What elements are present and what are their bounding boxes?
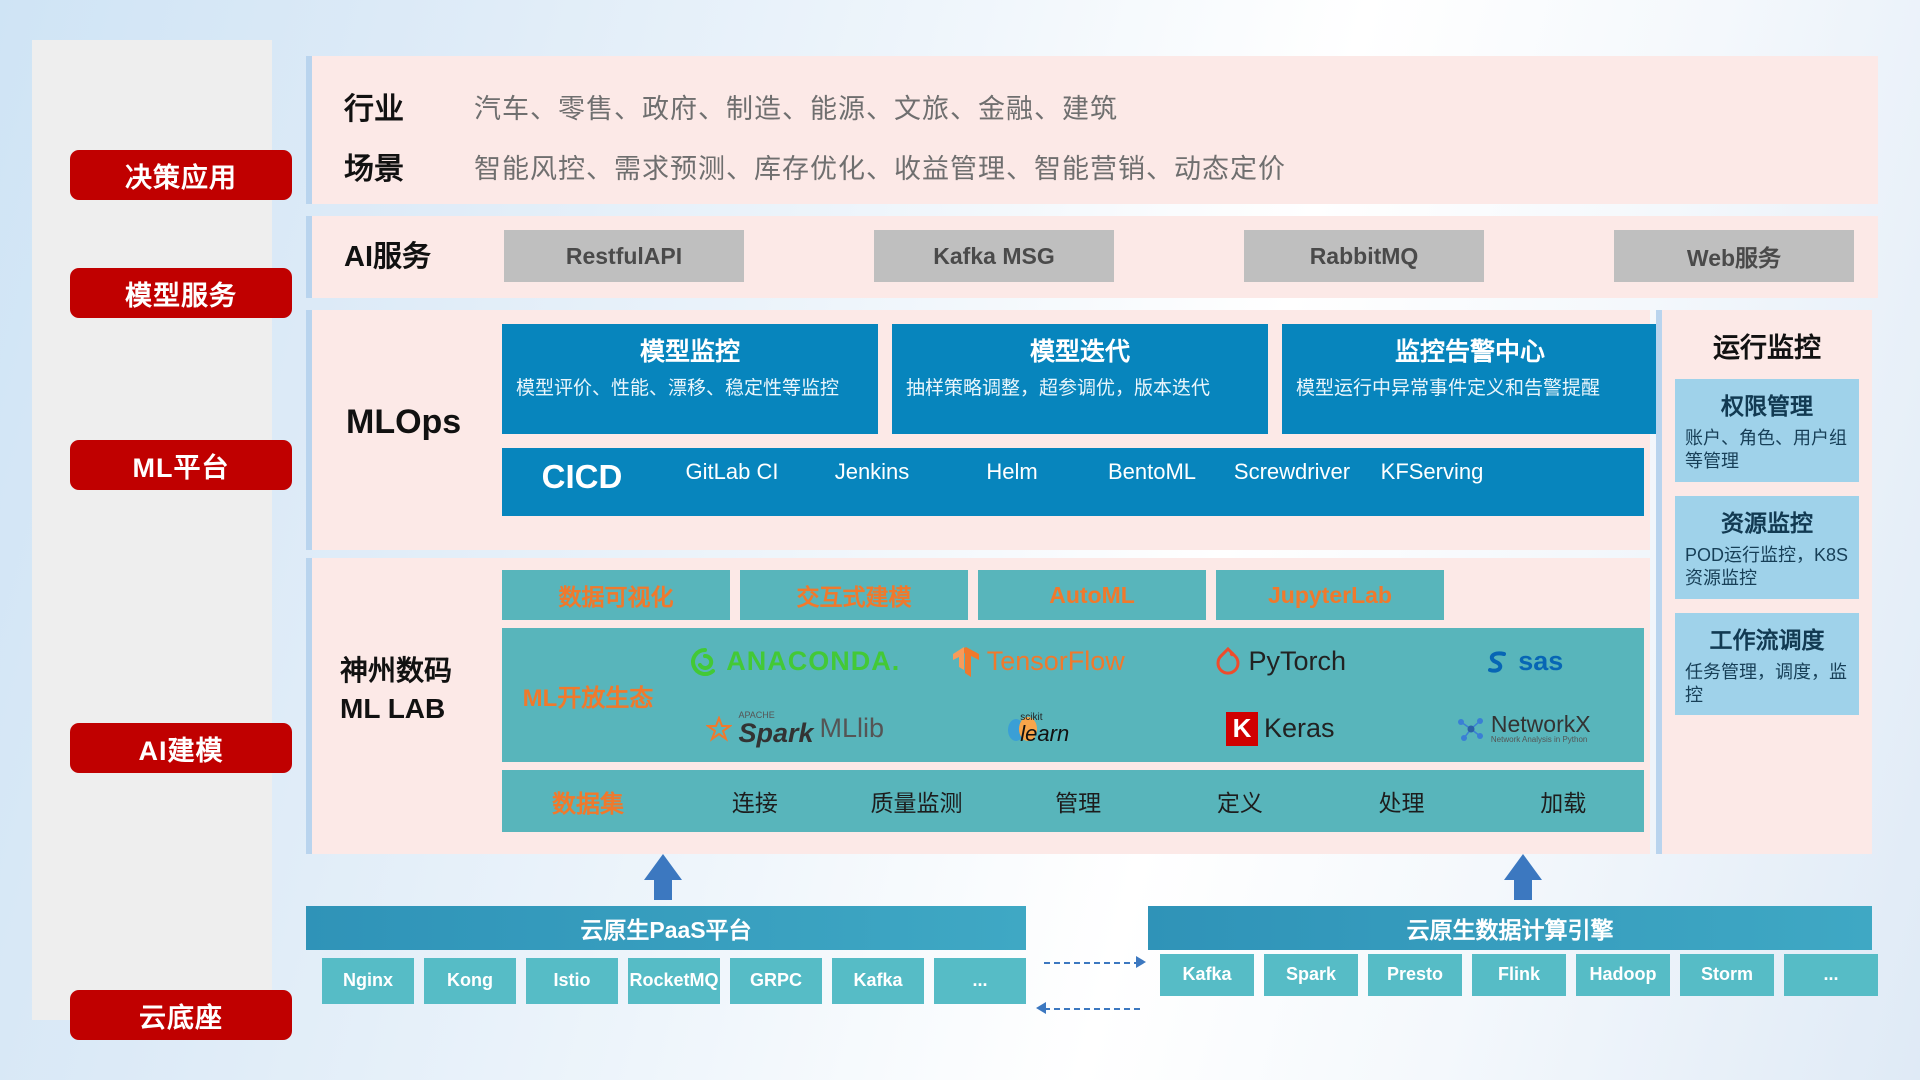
sas-logo: sas <box>1482 646 1563 677</box>
tech-chip-istio[interactable]: Istio <box>526 958 618 1004</box>
keras-logo: K Keras <box>1226 712 1335 746</box>
pytorch-logo-text: PyTorch <box>1248 646 1346 677</box>
learn-logo-text: learn <box>1020 723 1069 745</box>
card-title: 工作流调度 <box>1685 621 1849 655</box>
dataset-item-load[interactable]: 加载 <box>1482 784 1644 818</box>
keras-logo-text: Keras <box>1264 713 1335 744</box>
operations-monitoring-column: 运行监控 权限管理 账户、角色、用户组等管理 资源监控 POD运行监控，K8S资… <box>1656 310 1872 854</box>
tech-chip-more[interactable]: ... <box>1784 954 1878 996</box>
dataset-strip: 数据集 连接 质量监测 管理 定义 处理 加载 <box>502 770 1644 832</box>
mlops-card-model-monitoring[interactable]: 模型监控 模型评价、性能、漂移、稳定性等监控 <box>502 324 878 434</box>
paas-uplink-stem <box>654 878 672 900</box>
rail-item-label: 模型服务 <box>125 274 237 313</box>
cicd-item-screwdriver[interactable]: Screwdriver <box>1222 458 1362 486</box>
paas-platform-bar[interactable]: 云原生PaaS平台 <box>306 906 1026 950</box>
tensorflow-logo-text: TensorFlow <box>987 646 1125 677</box>
dataset-label: 数据集 <box>502 784 674 819</box>
rail-item-model-service[interactable]: 模型服务 <box>70 268 292 318</box>
mlops-card-alert-center[interactable]: 监控告警中心 模型运行中异常事件定义和告警提醒 <box>1282 324 1658 434</box>
lab-tab-data-visualization[interactable]: 数据可视化 <box>502 570 730 620</box>
monitor-card-permission[interactable]: 权限管理 账户、角色、用户组等管理 <box>1675 379 1859 482</box>
industry-key: 行业 <box>344 84 474 128</box>
lab-tab-list: 数据可视化 交互式建模 AutoML JupyterLab <box>502 570 1444 620</box>
card-desc: POD运行监控，K8S资源监控 <box>1685 544 1849 591</box>
card-desc: 任务管理，调度，监控 <box>1685 661 1849 708</box>
industry-row: 行业 汽车、零售、政府、制造、能源、文旅、金融、建筑 <box>344 84 1118 128</box>
rail-item-decision-app[interactable]: 决策应用 <box>70 150 292 200</box>
ml-ecosystem-strip: ML开放生态 ANACONDA. TensorFlow <box>502 628 1644 762</box>
dataset-item-manage[interactable]: 管理 <box>997 784 1159 818</box>
card-desc: 账户、角色、用户组等管理 <box>1685 427 1849 474</box>
rail-item-label: AI建模 <box>139 729 224 768</box>
networkx-tagline: Network Analysis in Python <box>1491 736 1591 744</box>
industry-value: 汽车、零售、政府、制造、能源、文旅、金融、建筑 <box>474 87 1118 126</box>
tech-chip-kafka[interactable]: Kafka <box>1160 954 1254 996</box>
tech-chip-rocketmq[interactable]: RocketMQ <box>628 958 720 1004</box>
rail-item-cloud-base[interactable]: 云底座 <box>70 990 292 1040</box>
cicd-item-helm[interactable]: Helm <box>942 458 1082 486</box>
logo-grid: ANACONDA. TensorFlow PyTorch <box>674 628 1644 762</box>
paas-uplink-arrow-icon <box>644 854 682 880</box>
pytorch-logo: PyTorch <box>1214 646 1346 677</box>
monitor-card-workflow[interactable]: 工作流调度 任务管理，调度，监控 <box>1675 613 1859 716</box>
anaconda-logo: ANACONDA. <box>690 646 900 677</box>
ml-ecosystem-label: ML开放生态 <box>502 678 674 713</box>
card-title: 模型迭代 <box>906 332 1254 368</box>
card-desc: 抽样策略调整，超参调优，版本迭代 <box>906 376 1254 402</box>
lab-tab-interactive-modeling[interactable]: 交互式建模 <box>740 570 968 620</box>
application-band: 行业 汽车、零售、政府、制造、能源、文旅、金融、建筑 场景 智能风控、需求预测、… <box>306 56 1878 204</box>
card-title: 权限管理 <box>1685 387 1849 421</box>
card-desc: 模型运行中异常事件定义和告警提醒 <box>1296 376 1644 402</box>
mlops-card-model-iteration[interactable]: 模型迭代 抽样策略调整，超参调优，版本迭代 <box>892 324 1268 434</box>
networkx-logo: NetworkX Network Analysis in Python <box>1455 713 1591 744</box>
service-chip-restful[interactable]: RestfulAPI <box>504 230 744 282</box>
service-chip-web[interactable]: Web服务 <box>1614 230 1854 282</box>
ai-service-band: AI服务 RestfulAPI Kafka MSG RabbitMQ Web服务 <box>306 216 1878 298</box>
tech-chip-kong[interactable]: Kong <box>424 958 516 1004</box>
mlops-card-list: 模型监控 模型评价、性能、漂移、稳定性等监控 模型迭代 抽样策略调整，超参调优，… <box>502 324 1658 434</box>
scenario-value: 智能风控、需求预测、库存优化、收益管理、智能营销、动态定价 <box>474 147 1286 186</box>
paas-platform-label: 云原生PaaS平台 <box>580 911 751 945</box>
interconnect-arrow-right <box>1044 962 1140 964</box>
tensorflow-logo: TensorFlow <box>951 645 1125 679</box>
rail-item-label: ML平台 <box>133 446 230 485</box>
compute-tech-chip-list: Kafka Spark Presto Flink Hadoop Storm ..… <box>1160 954 1878 996</box>
tech-chip-flink[interactable]: Flink <box>1472 954 1566 996</box>
cicd-item-gitlab[interactable]: GitLab CI <box>662 458 802 486</box>
paas-tech-chip-list: Nginx Kong Istio RocketMQ GRPC Kafka ... <box>322 958 1026 1004</box>
lab-tab-automl[interactable]: AutoML <box>978 570 1206 620</box>
card-title: 资源监控 <box>1685 504 1849 538</box>
compute-uplink-stem <box>1514 878 1532 900</box>
ml-lab-label-line2: ML LAB <box>340 690 452 728</box>
ai-service-chip-list: RestfulAPI Kafka MSG RabbitMQ Web服务 <box>504 230 1854 282</box>
cicd-title: CICD <box>502 458 662 496</box>
cicd-item-jenkins[interactable]: Jenkins <box>802 458 942 486</box>
tech-chip-kafka[interactable]: Kafka <box>832 958 924 1004</box>
layer-rail: 决策应用 模型服务 ML平台 AI建模 云底座 <box>32 40 272 1020</box>
networkx-logo-text: NetworkX <box>1491 713 1591 736</box>
tech-chip-more[interactable]: ... <box>934 958 1026 1004</box>
rail-item-label: 云底座 <box>139 996 223 1035</box>
spark-logo-text: Spark <box>738 720 813 747</box>
rail-item-label: 决策应用 <box>125 156 237 195</box>
mllib-logo-text: MLlib <box>820 713 885 744</box>
service-chip-kafka[interactable]: Kafka MSG <box>874 230 1114 282</box>
data-compute-engine-bar[interactable]: 云原生数据计算引擎 <box>1148 906 1872 950</box>
scenario-key: 场景 <box>344 144 474 188</box>
dataset-item-quality[interactable]: 质量监测 <box>836 784 998 818</box>
interconnect-arrowhead-left-icon <box>1036 1002 1046 1014</box>
scenario-row: 场景 智能风控、需求预测、库存优化、收益管理、智能营销、动态定价 <box>344 144 1286 188</box>
rail-item-ml-platform[interactable]: ML平台 <box>70 440 292 490</box>
rail-item-ai-modeling[interactable]: AI建模 <box>70 723 292 773</box>
dataset-item-process[interactable]: 处理 <box>1321 784 1483 818</box>
monitor-card-resource[interactable]: 资源监控 POD运行监控，K8S资源监控 <box>1675 496 1859 599</box>
service-chip-rabbitmq[interactable]: RabbitMQ <box>1244 230 1484 282</box>
tech-chip-spark[interactable]: Spark <box>1264 954 1358 996</box>
architecture-diagram: 决策应用 模型服务 ML平台 AI建模 云底座 行业 汽车、零售、政府、制造、能… <box>0 0 1920 1080</box>
spark-mllib-logo: APACHE Spark MLlib <box>706 711 884 747</box>
sas-logo-text: sas <box>1518 646 1563 677</box>
scikit-learn-logo: scikit learn <box>1006 712 1069 746</box>
dataset-item-connect[interactable]: 连接 <box>674 784 836 818</box>
lab-tab-jupyterlab[interactable]: JupyterLab <box>1216 570 1444 620</box>
card-title: 监控告警中心 <box>1296 332 1644 368</box>
ai-service-label: AI服务 <box>344 238 431 277</box>
anaconda-logo-text: ANACONDA. <box>726 646 900 677</box>
interconnect-arrow-left <box>1044 1008 1140 1010</box>
tech-chip-nginx[interactable]: Nginx <box>322 958 414 1004</box>
cicd-item-bentoml[interactable]: BentoML <box>1082 458 1222 486</box>
compute-uplink-arrow-icon <box>1504 854 1542 880</box>
keras-mark: K <box>1226 712 1258 746</box>
tech-chip-hadoop[interactable]: Hadoop <box>1576 954 1670 996</box>
tech-chip-storm[interactable]: Storm <box>1680 954 1774 996</box>
tech-chip-presto[interactable]: Presto <box>1368 954 1462 996</box>
mlops-label: MLOps <box>346 400 461 446</box>
ml-lab-label-line1: 神州数码 <box>340 652 452 690</box>
tech-chip-grpc[interactable]: GRPC <box>730 958 822 1004</box>
cicd-strip: CICD GitLab CI Jenkins Helm BentoML Scre… <box>502 448 1644 516</box>
ml-lab-label: 神州数码 ML LAB <box>340 652 452 728</box>
monitoring-title: 运行监控 <box>1662 310 1872 365</box>
mlops-band: MLOps 模型监控 模型评价、性能、漂移、稳定性等监控 模型迭代 抽样策略调整… <box>306 310 1650 550</box>
dataset-item-define[interactable]: 定义 <box>1159 784 1321 818</box>
data-compute-engine-label: 云原生数据计算引擎 <box>1407 911 1614 945</box>
card-title: 模型监控 <box>516 332 864 368</box>
cicd-item-kfserving[interactable]: KFServing <box>1362 458 1502 486</box>
interconnect-arrowhead-right-icon <box>1136 956 1146 968</box>
ml-lab-band: 神州数码 ML LAB 数据可视化 交互式建模 AutoML JupyterLa… <box>306 558 1650 854</box>
card-desc: 模型评价、性能、漂移、稳定性等监控 <box>516 376 864 402</box>
